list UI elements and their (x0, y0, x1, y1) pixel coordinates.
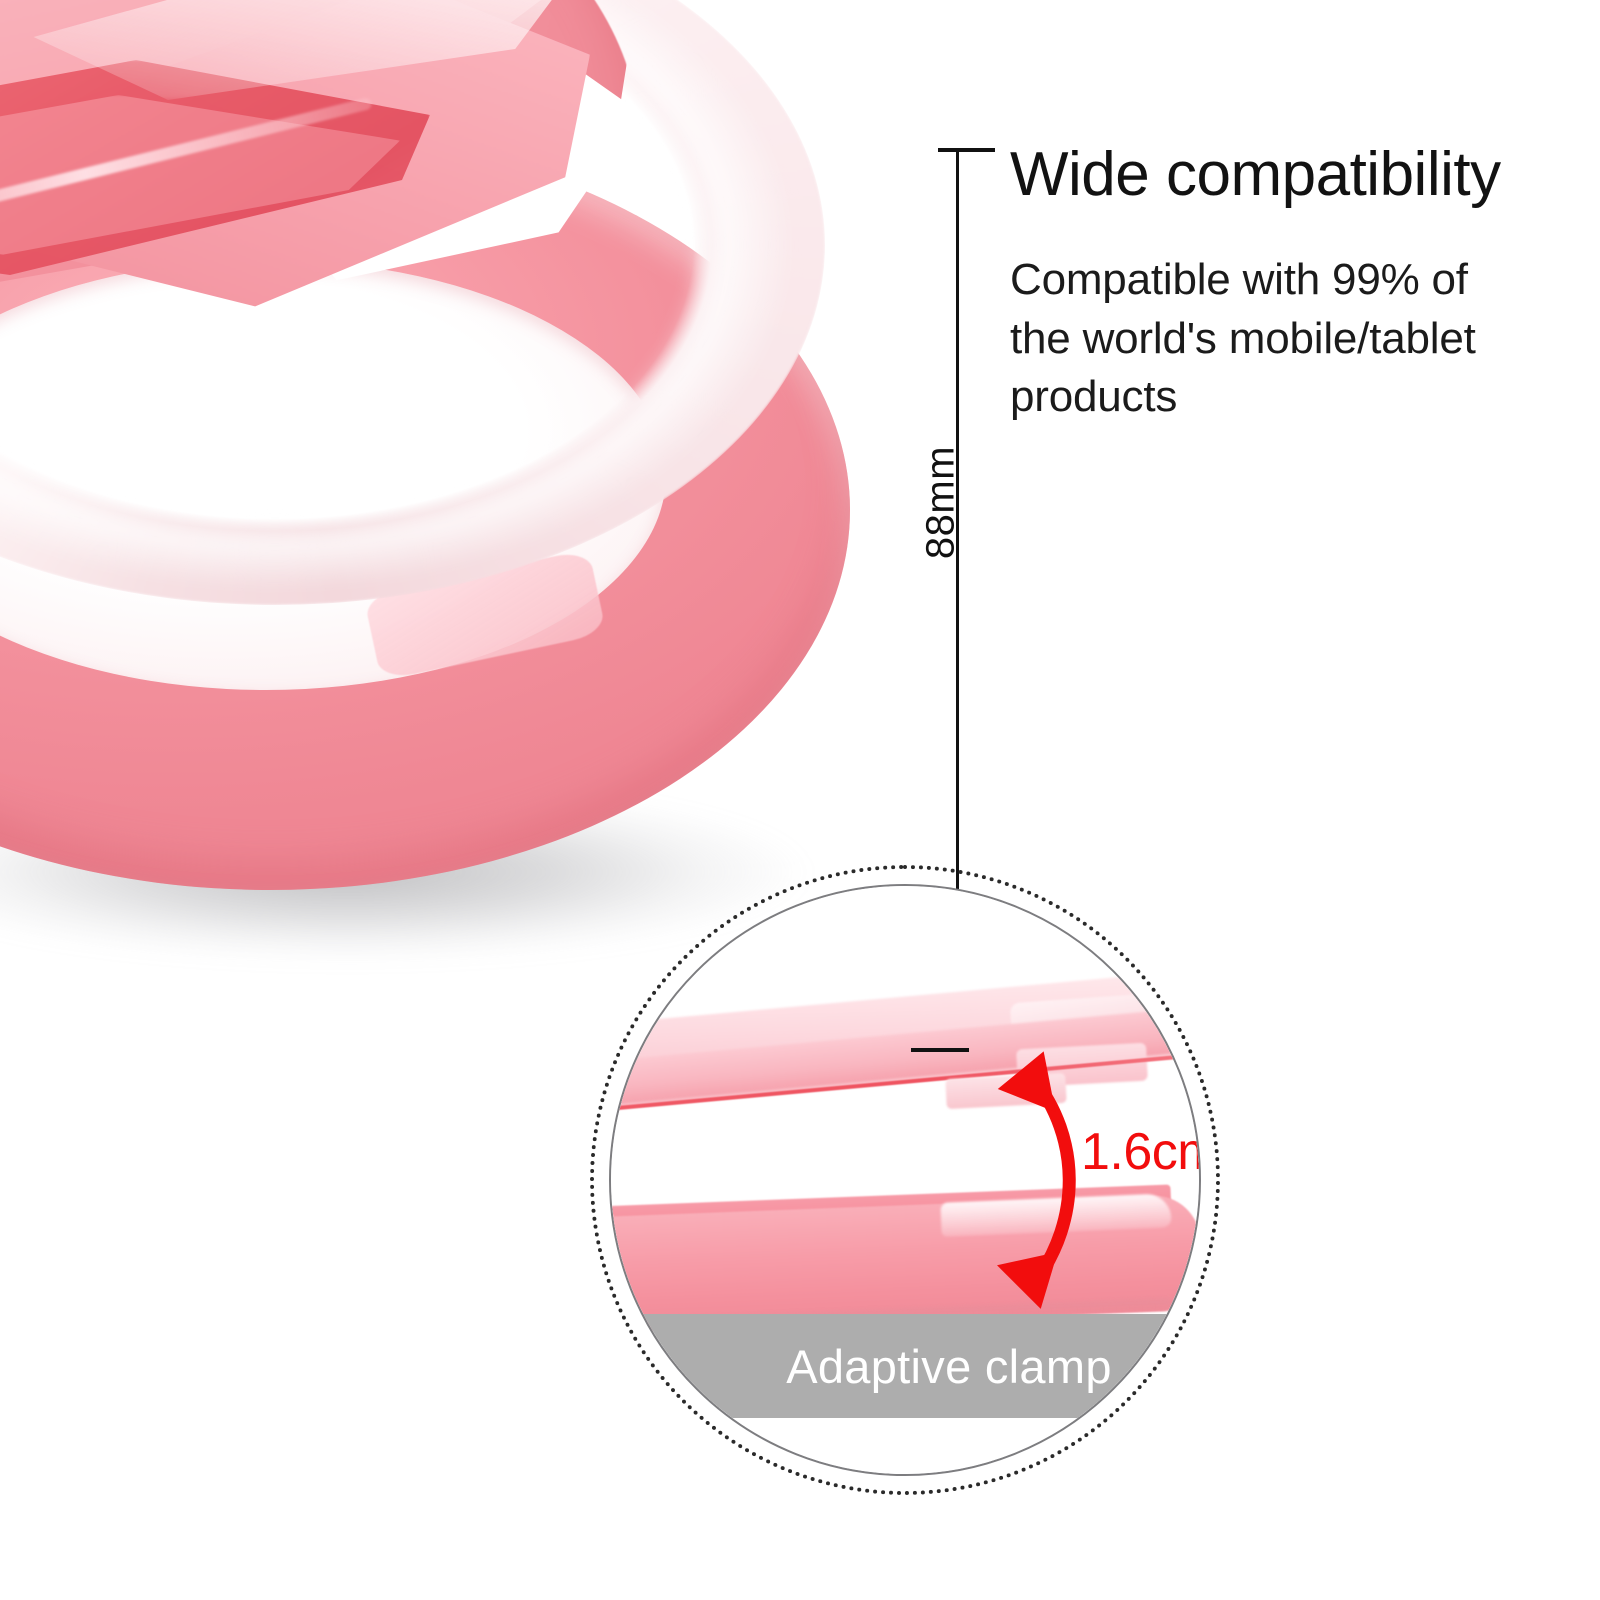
ring-light-assembly (0, 0, 880, 1010)
body-line-1: Compatible with 99% of (1010, 251, 1570, 309)
adaptive-clamp-inset: 1.6cm Adaptive clamp (590, 865, 1220, 1495)
inset-caption-band: Adaptive clamp (611, 1314, 1199, 1418)
dimension-line-vertical (956, 150, 959, 976)
inset-caption-text: Adaptive clamp (786, 1339, 1112, 1394)
body-copy: Compatible with 99% of the world's mobil… (1010, 251, 1570, 425)
dimension-tick-top (938, 148, 995, 152)
dimension-tick-inset (911, 1048, 969, 1052)
gap-label-1-6cm: 1.6cm (1081, 1122, 1199, 1182)
infographic-canvas: 88mm Wide compatibility Compatible with … (0, 0, 1600, 1600)
body-line-2: the world's mobile/tablet (1010, 310, 1570, 368)
inset-solid-ring: 1.6cm Adaptive clamp (609, 884, 1201, 1476)
product-photo (0, 0, 920, 1010)
headline-wide-compatibility: Wide compatibility (1010, 140, 1570, 209)
body-line-3: products (1010, 368, 1570, 426)
dimension-label-88mm: 88mm (919, 423, 964, 583)
inset-content-clip: 1.6cm Adaptive clamp (611, 886, 1199, 1474)
feature-text-block: Wide compatibility Compatible with 99% o… (1010, 140, 1570, 426)
